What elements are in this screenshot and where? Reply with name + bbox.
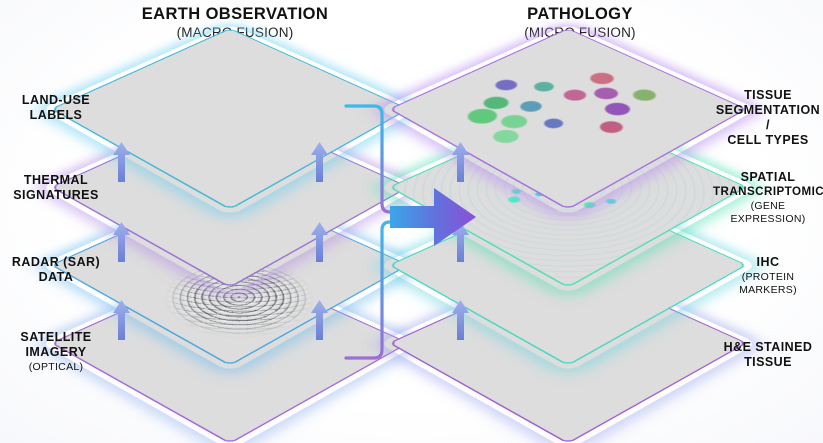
label-radar-sar: RADAR (SAR) DATA [2,255,110,285]
label-line-1: LAND-USE [2,93,110,108]
label-line-1: SPATIAL [713,170,823,185]
label-line-2: LABELS [2,108,110,123]
label-sub: (PROTEIN MARKERS) [713,271,823,296]
label-line-1: TISSUE [713,88,823,103]
fusion-up-arrow [311,300,328,340]
label-tissue-segmentation: TISSUE SEGMENTATION / CELL TYPES [713,88,823,148]
label-line-1: RADAR (SAR) [2,255,110,270]
layer-plate-land-use-labels[interactable] [105,0,355,234]
label-line-2: DATA [2,270,110,285]
label-land-use: LAND-USE LABELS [2,93,110,123]
label-line-2: IMAGERY [2,345,110,360]
label-line-2: TISSUE [713,355,823,370]
label-he-stained-tissue: H&E STAINED TISSUE [713,340,823,370]
fusion-up-arrow [311,222,328,262]
label-spatial-transcriptomics: SPATIAL TRANSCRIPTOMICS (GENE EXPRESSION… [713,170,823,225]
label-line-3: CELL TYPES [713,133,823,148]
label-line-1: IHC [713,255,823,270]
label-line-2: TRANSCRIPTOMICS [713,185,823,199]
label-sub: (GENE EXPRESSION) [713,200,823,225]
macro-to-micro-connector [330,80,500,380]
label-sub: (OPTICAL) [2,361,110,374]
label-line-2: SEGMENTATION / [713,103,823,133]
label-satellite-imagery: SATELLITE IMAGERY (OPTICAL) [2,330,110,374]
label-line-1: H&E STAINED [713,340,823,355]
label-line-1: THERMAL [2,173,110,188]
fusion-up-arrow [311,142,328,182]
fusion-up-arrow [113,222,130,262]
label-line-1: SATELLITE [2,330,110,345]
fusion-up-arrow [113,300,130,340]
fusion-up-arrow [113,142,130,182]
label-thermal: THERMAL SIGNATURES [2,173,110,203]
label-ihc: IHC (PROTEIN MARKERS) [713,255,823,296]
label-line-2: SIGNATURES [2,188,110,203]
diagram-canvas: EARTH OBSERVATION (MACRO FUSION) PATHOLO… [0,0,823,443]
